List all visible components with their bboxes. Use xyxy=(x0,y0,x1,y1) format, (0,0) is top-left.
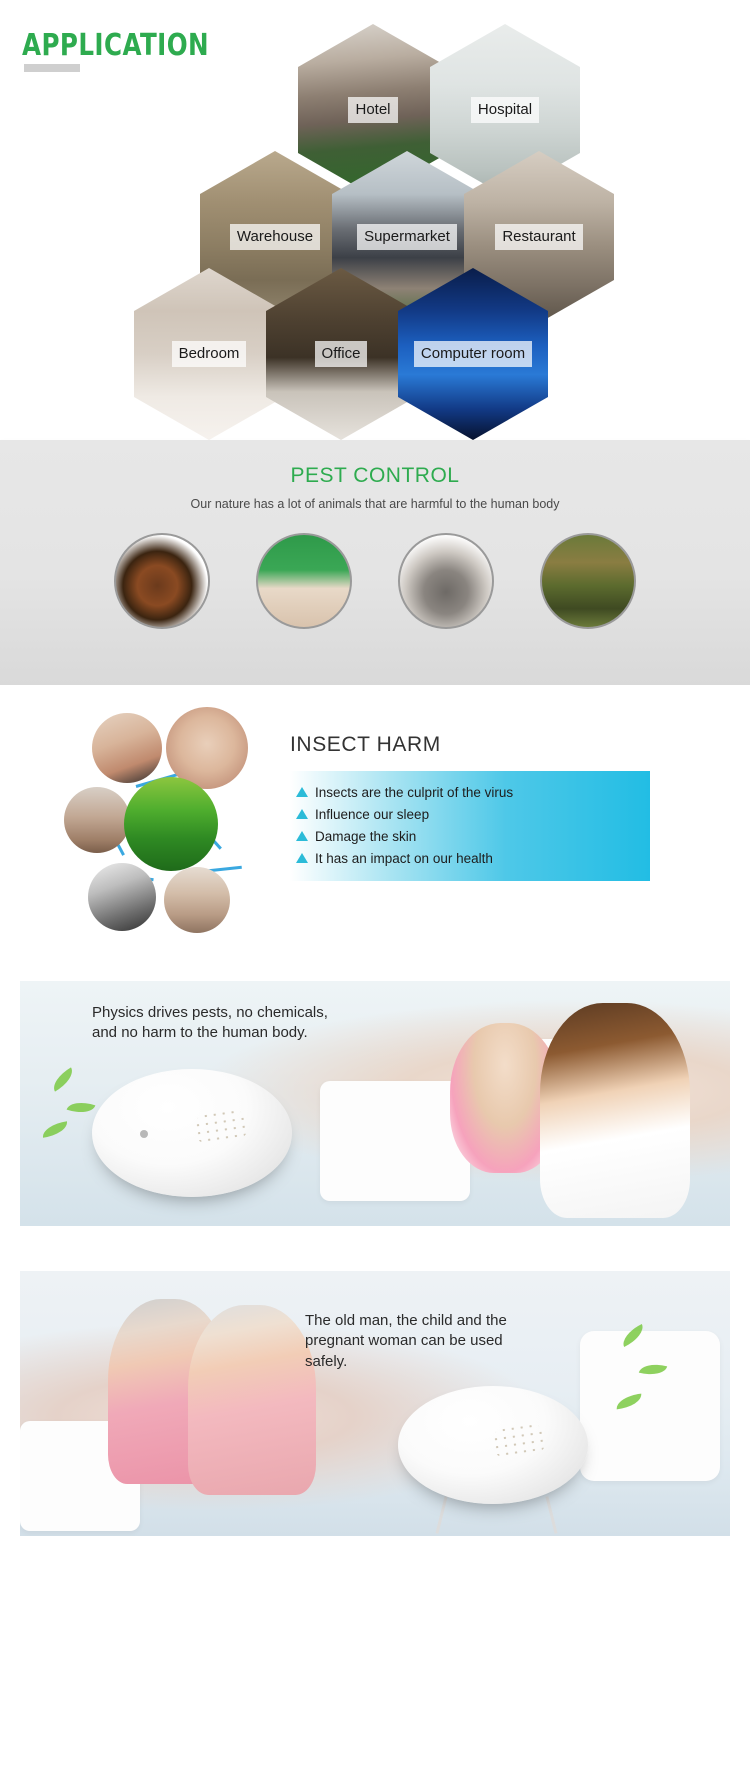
pest-control-subtitle: Our nature has a lot of animals that are… xyxy=(0,497,750,511)
insect-harm-bullet-list: Insects are the culprit of the virus Inf… xyxy=(290,771,650,881)
snake-icon xyxy=(540,533,636,629)
mosquito-icon xyxy=(256,533,352,629)
cockroach-icon xyxy=(114,533,210,629)
insect-harm-text-block: INSECT HARM Insects are the culprit of t… xyxy=(290,733,730,881)
banner-mother-baby: Physics drives pests, no chemicals, and … xyxy=(20,981,730,1226)
triangle-bullet-icon xyxy=(296,809,308,819)
application-section: APPLICATION Hotel Hospital Warehouse Sup… xyxy=(0,0,750,440)
device-vent-dots-icon xyxy=(192,1106,250,1147)
legs-rash-icon xyxy=(92,713,162,783)
pest-repeller-device xyxy=(398,1386,588,1504)
elderly-man-figure xyxy=(188,1305,316,1495)
hex-label-restaurant: Restaurant xyxy=(495,224,582,249)
chair-shape xyxy=(320,1081,470,1201)
hex-label-hospital: Hospital xyxy=(471,97,539,122)
leaf-icon xyxy=(67,1097,96,1117)
hand-bandage-icon xyxy=(64,787,130,853)
hex-label-supermarket: Supermarket xyxy=(357,224,457,249)
hex-label-hotel: Hotel xyxy=(348,97,397,122)
mother-figure xyxy=(540,1003,690,1218)
pest-creature-list xyxy=(0,533,750,629)
chair-shape xyxy=(580,1331,720,1481)
mosquito-biting-icon xyxy=(124,777,218,871)
insect-harm-heading: INSECT HARM xyxy=(290,733,730,757)
leaf-icon xyxy=(41,1121,69,1137)
list-item: Insects are the culprit of the virus xyxy=(290,781,650,803)
pest-repeller-device xyxy=(92,1069,292,1197)
bullet-label: It has an impact on our health xyxy=(315,851,493,866)
title-underline xyxy=(24,64,80,72)
mouse-icon xyxy=(398,533,494,629)
triangle-bullet-icon xyxy=(296,831,308,841)
leaf-icon xyxy=(48,1067,77,1091)
insect-harm-collage xyxy=(62,695,292,955)
banner-caption: The old man, the child and the pregnant … xyxy=(305,1311,507,1372)
list-item: Influence our sleep xyxy=(290,803,650,825)
hex-label-warehouse: Warehouse xyxy=(230,224,320,249)
device-led-icon xyxy=(140,1130,148,1138)
scratching-skin-icon xyxy=(164,867,230,933)
bullet-label: Damage the skin xyxy=(315,829,416,844)
banner-caption: Physics drives pests, no chemicals, and … xyxy=(92,1003,328,1044)
list-item: Damage the skin xyxy=(290,825,650,847)
bullet-label: Influence our sleep xyxy=(315,807,429,822)
device-vent-dots-icon xyxy=(490,1420,548,1461)
hexagon-grid: Hotel Hospital Warehouse Supermarket Res… xyxy=(130,10,600,410)
device-stand-leg xyxy=(545,1496,557,1534)
hex-label-office: Office xyxy=(315,341,368,366)
product-detail-page: APPLICATION Hotel Hospital Warehouse Sup… xyxy=(0,0,750,1536)
headache-icon xyxy=(88,863,156,931)
pest-control-title: PEST CONTROL xyxy=(0,440,750,488)
banner-elderly-couple: The old man, the child and the pregnant … xyxy=(20,1271,730,1536)
bullet-label: Insects are the culprit of the virus xyxy=(315,785,513,800)
insect-harm-section: INSECT HARM Insects are the culprit of t… xyxy=(0,685,750,965)
list-item: It has an impact on our health xyxy=(290,847,650,869)
triangle-bullet-icon xyxy=(296,853,308,863)
device-stand-leg xyxy=(435,1496,447,1534)
pest-control-section: PEST CONTROL Our nature has a lot of ani… xyxy=(0,440,750,685)
triangle-bullet-icon xyxy=(296,787,308,797)
hex-label-computer-room: Computer room xyxy=(414,341,532,366)
hex-label-bedroom: Bedroom xyxy=(172,341,247,366)
